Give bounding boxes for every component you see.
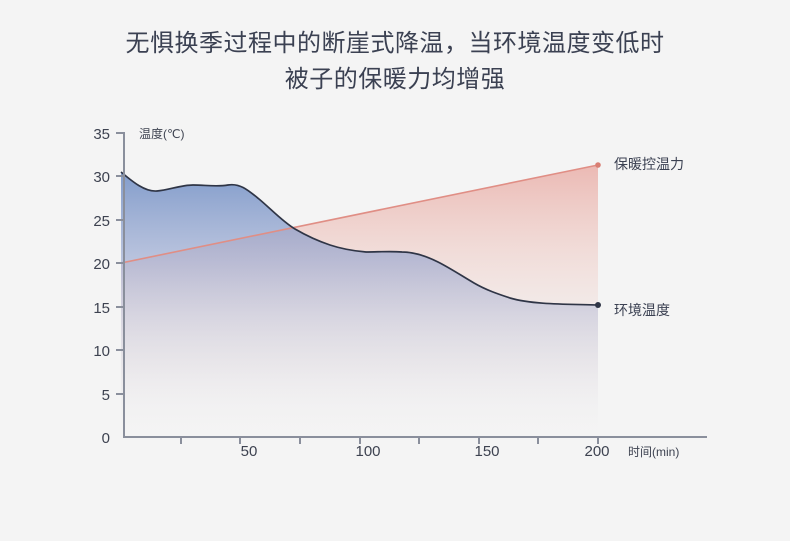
temperature-line-chart: 35 30 25 20 15 10 5 0 50 100 150 200 温度(… bbox=[0, 0, 790, 541]
chart-page: 无惧换季过程中的断崖式降温，当环境温度变低时 被子的保暖力均增强 bbox=[0, 0, 790, 541]
y-label-15: 15 bbox=[93, 300, 110, 317]
y-axis-tick-labels: 35 30 25 20 15 10 5 0 bbox=[93, 126, 110, 447]
x-axis-title: 时间(min) bbox=[628, 445, 679, 459]
series-label-ambient: 环境温度 bbox=[614, 302, 670, 318]
chart-svg: 35 30 25 20 15 10 5 0 50 100 150 200 温度(… bbox=[0, 0, 790, 541]
y-label-35: 35 bbox=[93, 126, 110, 143]
x-label-100: 100 bbox=[355, 443, 380, 460]
y-label-20: 20 bbox=[93, 256, 110, 273]
x-axis-tick-labels: 50 100 150 200 bbox=[241, 443, 610, 460]
ambient-end-marker bbox=[595, 302, 601, 308]
y-label-5: 5 bbox=[102, 387, 110, 404]
x-label-200: 200 bbox=[584, 443, 609, 460]
y-label-30: 30 bbox=[93, 169, 110, 186]
warmth-end-marker bbox=[595, 162, 601, 168]
x-label-50: 50 bbox=[241, 443, 258, 460]
y-label-0: 0 bbox=[102, 430, 110, 447]
x-label-150: 150 bbox=[474, 443, 499, 460]
y-label-25: 25 bbox=[93, 213, 110, 230]
y-axis-title: 温度(℃) bbox=[139, 126, 184, 141]
y-label-10: 10 bbox=[93, 343, 110, 360]
series-label-warmth: 保暖控温力 bbox=[614, 156, 684, 172]
